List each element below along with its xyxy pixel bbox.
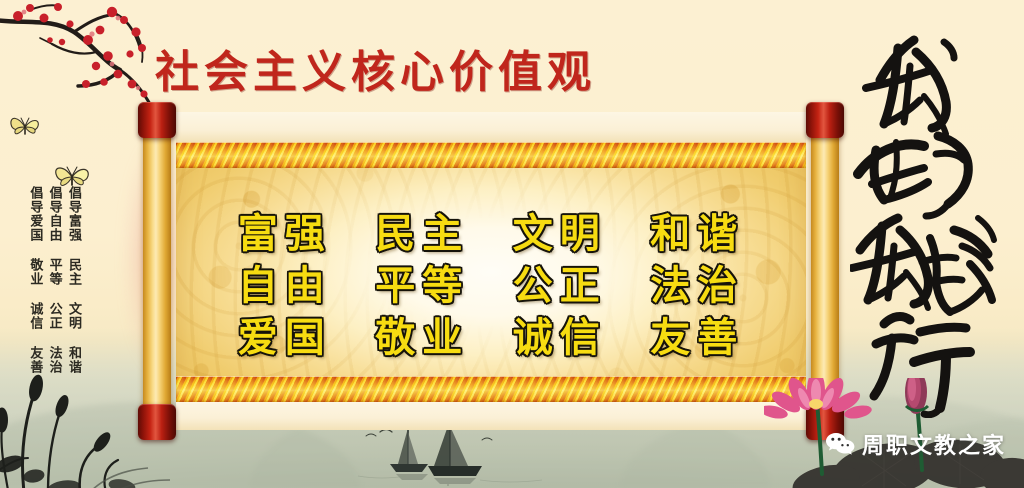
butterfly-icon	[8, 112, 42, 142]
poster-canvas: 社会主义核心价值观 倡导富强 民主 文明 和谐 倡导自由 平等 公正 法治 倡导…	[0, 0, 1024, 488]
value-word: 平等	[375, 253, 469, 311]
roller-cap-bottom	[138, 404, 176, 440]
roller-cap-top	[138, 102, 176, 138]
scroll-banner: 富强 民主 文明 和谐 自由 平等 公正 法治 爱国 敬业 诚信 友善	[138, 112, 844, 430]
value-word: 敬业	[375, 305, 469, 363]
value-word: 诚信	[513, 305, 607, 363]
vertical-slogan-group: 倡导富强 民主 文明 和谐 倡导自由 平等 公正 法治 倡导爱国 敬业 诚信 友…	[28, 186, 82, 346]
vertical-slogan-line: 倡导自由 平等 公正 法治	[47, 186, 62, 346]
roller-rod	[811, 126, 839, 416]
scroll-ornament-band-top	[176, 142, 806, 168]
value-word: 友善	[650, 305, 744, 363]
value-word: 文明	[513, 201, 607, 259]
page-title: 社会主义核心价值观	[155, 36, 596, 100]
watermark-text: 周职文教之家	[862, 428, 1006, 460]
scroll-ornament-band-bottom	[176, 376, 806, 402]
value-word: 爱国	[238, 305, 332, 363]
value-word: 法治	[650, 253, 744, 311]
value-word: 民主	[375, 201, 469, 259]
vertical-slogan-line: 倡导爱国 敬业 诚信 友善	[28, 186, 43, 346]
value-word: 和谐	[650, 201, 744, 259]
calligraphy-char-wo-2	[852, 218, 928, 308]
calligraphy-char-xue	[858, 136, 968, 216]
roller-cap-top	[806, 102, 844, 138]
calligraphy-artwork	[850, 18, 1000, 418]
value-word: 自由	[238, 253, 332, 311]
scroll-ribbon-top	[176, 112, 806, 142]
wechat-icon	[825, 431, 855, 457]
value-word: 富强	[238, 201, 332, 259]
value-word: 公正	[513, 253, 607, 311]
core-values-grid: 富强 民主 文明 和谐 自由 平等 公正 法治 爱国 敬业 诚信 友善	[216, 204, 766, 360]
scroll-roller-left	[138, 102, 176, 440]
vertical-slogan-line: 倡导富强 民主 文明 和谐	[67, 186, 82, 346]
lotus-bud	[905, 378, 928, 414]
roller-rod	[143, 126, 171, 416]
scroll-ribbon-bottom	[176, 400, 806, 430]
calligraphy-char-jian	[922, 218, 994, 312]
watermark: 周职文教之家	[825, 428, 1006, 460]
calligraphy-char-wo	[866, 40, 954, 134]
